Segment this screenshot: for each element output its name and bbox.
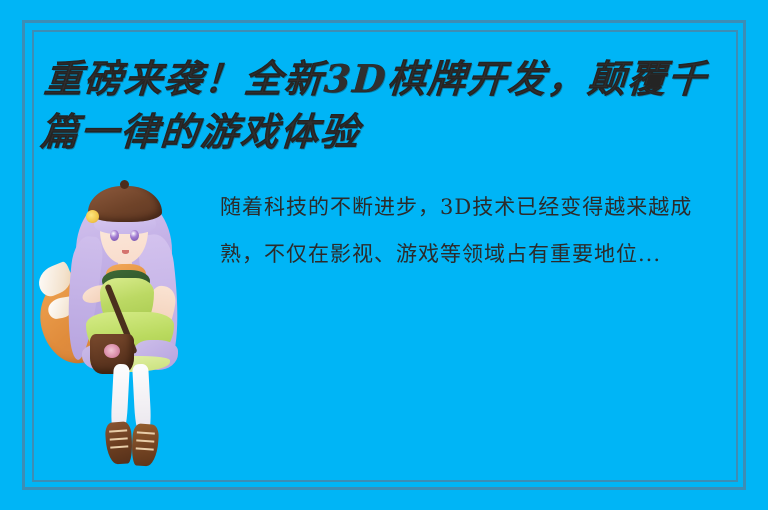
beret-hat — [88, 186, 162, 222]
eye-right — [130, 230, 139, 241]
eye-left — [110, 230, 119, 241]
headline-title: 重磅来袭！全新3D棋牌开发，颠覆千篇一律的游戏体验 — [39, 52, 736, 158]
beret-top-nub — [120, 180, 129, 189]
boot-left — [105, 421, 134, 465]
article-banner: 重磅来袭！全新3D棋牌开发，颠覆千篇一律的游戏体验 随着科技的不断进步，3D技术… — [0, 0, 768, 510]
boot-lace — [110, 437, 128, 440]
boot-lace — [136, 447, 154, 450]
boot-lace — [109, 429, 127, 432]
article-excerpt: 随着科技的不断进步，3D技术已经变得越来越成熟，不仅在影视、游戏等领域占有重要地… — [220, 184, 725, 278]
boot-right — [131, 423, 160, 467]
boot-lace — [137, 431, 155, 434]
boot-lace — [110, 445, 128, 448]
bag-flower-emblem — [104, 344, 120, 358]
hat-flower-pin — [86, 210, 99, 223]
anime-girl-illustration — [38, 178, 208, 470]
mouth — [122, 250, 129, 254]
boot-lace — [136, 439, 154, 442]
